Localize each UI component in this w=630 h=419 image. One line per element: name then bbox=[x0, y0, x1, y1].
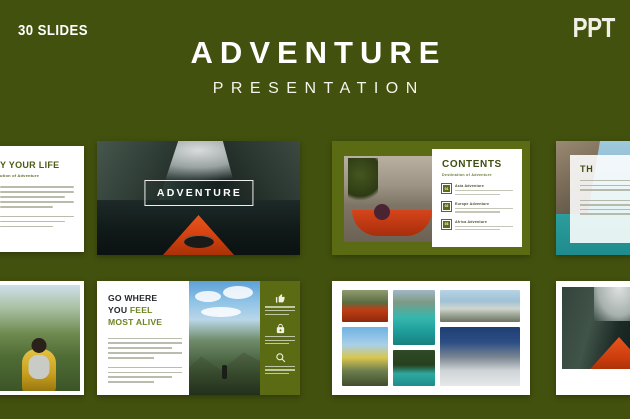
search-icon bbox=[265, 352, 295, 363]
text-line bbox=[108, 338, 182, 340]
item-number-badge: 03 bbox=[442, 220, 451, 229]
fjord-photo bbox=[562, 287, 630, 369]
text-line bbox=[108, 352, 182, 354]
slide-thumbnail-the-adventure[interactable]: TH bbox=[556, 141, 630, 255]
cloud bbox=[201, 307, 241, 317]
text-line bbox=[580, 180, 630, 181]
text-line bbox=[580, 209, 630, 210]
item-heading: Asia Adventure bbox=[455, 184, 513, 188]
slide-title-box: ADVENTURE bbox=[144, 180, 253, 206]
summit-photo bbox=[189, 281, 260, 395]
item-body: Asia Adventure bbox=[455, 184, 513, 195]
slide-heading: TH bbox=[580, 164, 630, 174]
slide-heading: GO WHERE YOU FEEL MOST ALIVE bbox=[108, 293, 182, 329]
slide-content: Y YOUR LIFE ution of Adventure bbox=[0, 146, 84, 227]
text-line bbox=[265, 340, 295, 341]
feature-item[interactable] bbox=[265, 352, 295, 374]
text-line bbox=[580, 200, 630, 201]
text-line bbox=[265, 369, 295, 370]
gallery-photo-yellow-jacket[interactable] bbox=[342, 327, 388, 386]
text-line bbox=[455, 229, 500, 230]
text-line bbox=[0, 226, 53, 228]
heading-line-3: MOST ALIVE bbox=[108, 317, 162, 327]
slide-thumbnail-go-where-you-feel-most-alive[interactable]: GO WHERE YOU FEEL MOST ALIVE bbox=[97, 281, 300, 395]
text-line bbox=[0, 201, 74, 203]
gallery-column bbox=[342, 290, 388, 386]
gallery-column bbox=[393, 290, 435, 386]
item-heading: Europe Adventure bbox=[455, 202, 513, 206]
slide-subheading: ution of Adventure bbox=[0, 173, 74, 178]
contents-item[interactable]: 02 Europe Adventure bbox=[442, 202, 513, 213]
text-line bbox=[108, 357, 154, 359]
gallery-photo-snowy-peaks[interactable] bbox=[440, 327, 520, 386]
gallery-photo-boat-lake[interactable] bbox=[393, 290, 435, 345]
lock-icon bbox=[265, 323, 295, 334]
body-paragraph bbox=[0, 186, 74, 208]
sky bbox=[594, 287, 630, 321]
slide-thumbnail-photo-gallery[interactable] bbox=[332, 281, 530, 395]
heading-line-2-plain: YOU bbox=[108, 305, 130, 315]
text-line bbox=[265, 373, 289, 374]
text-line bbox=[265, 336, 295, 337]
contents-item[interactable]: 03 Africa Adventure bbox=[442, 220, 513, 231]
text-line bbox=[265, 343, 289, 344]
slide-thumbnail-adventure-cover[interactable]: ADVENTURE bbox=[97, 141, 300, 255]
body-paragraph bbox=[108, 367, 182, 383]
contents-subtitle: Destination of Adventure bbox=[442, 173, 513, 177]
text-line bbox=[0, 216, 74, 218]
person bbox=[374, 204, 390, 220]
item-body: Europe Adventure bbox=[455, 202, 513, 213]
text-line bbox=[108, 367, 182, 369]
body-paragraph bbox=[580, 200, 630, 215]
slide-thumbnail-contents[interactable]: CONTENTS Destination of Adventure 01 Asi… bbox=[332, 141, 530, 255]
text-line bbox=[0, 191, 74, 193]
text-line bbox=[108, 347, 172, 349]
person-silhouette bbox=[222, 365, 227, 379]
item-heading: Africa Adventure bbox=[455, 220, 513, 224]
item-body: Africa Adventure bbox=[455, 220, 513, 231]
body-paragraph bbox=[580, 180, 630, 191]
thumbs-up-icon bbox=[265, 293, 295, 304]
text-line bbox=[580, 185, 630, 186]
slide-thumbnail-hiker[interactable] bbox=[0, 281, 84, 395]
feature-sidebar bbox=[260, 281, 300, 395]
gallery-photo-forest-lake[interactable] bbox=[393, 350, 435, 386]
hammock-photo bbox=[344, 156, 436, 242]
text-line bbox=[455, 208, 513, 209]
cloud bbox=[223, 286, 253, 299]
text-line bbox=[580, 204, 630, 205]
text-line bbox=[580, 213, 630, 214]
text-line bbox=[265, 306, 295, 307]
slide-thumbnail-kayak-card[interactable] bbox=[556, 281, 630, 395]
text-line bbox=[108, 381, 154, 383]
hiker-photo bbox=[0, 285, 80, 391]
contents-title: CONTENTS bbox=[442, 159, 513, 170]
kayak-boat bbox=[588, 337, 630, 369]
feature-item[interactable] bbox=[265, 293, 295, 315]
text-line bbox=[455, 226, 513, 227]
slide-thumbnail-enjoy-your-life[interactable]: Y YOUR LIFE ution of Adventure bbox=[0, 146, 84, 252]
body-paragraph bbox=[0, 216, 74, 228]
text-line bbox=[265, 314, 289, 315]
contents-item[interactable]: 01 Asia Adventure bbox=[442, 184, 513, 195]
heading-line-2-accent: FEEL bbox=[130, 305, 153, 315]
text-line bbox=[108, 376, 172, 378]
text-line bbox=[265, 310, 295, 311]
header: 30 SLIDES PPT ADVENTURE PRESENTATION bbox=[0, 0, 630, 130]
text-line bbox=[0, 186, 74, 188]
text-line bbox=[455, 194, 500, 195]
slide-heading: Y YOUR LIFE bbox=[0, 160, 74, 170]
body-paragraph bbox=[108, 338, 182, 359]
text-overlay: TH bbox=[570, 155, 630, 243]
item-number-badge: 01 bbox=[442, 184, 451, 193]
heading-line-1: GO WHERE bbox=[108, 293, 157, 303]
text-line bbox=[108, 372, 182, 374]
text-line bbox=[455, 211, 500, 212]
gallery-photo-hammock[interactable] bbox=[342, 290, 388, 322]
text-line bbox=[265, 366, 295, 367]
headline-block: GO WHERE YOU FEEL MOST ALIVE bbox=[108, 293, 182, 383]
text-line bbox=[0, 221, 65, 223]
photo-grid bbox=[342, 290, 520, 386]
hiker-with-backpack bbox=[22, 349, 56, 391]
feature-item[interactable] bbox=[265, 323, 295, 345]
text-line bbox=[0, 196, 65, 198]
page-subtitle: PRESENTATION bbox=[0, 80, 630, 98]
gallery-column bbox=[440, 290, 520, 386]
text-line bbox=[580, 189, 630, 190]
page-title: ADVENTURE bbox=[0, 37, 630, 70]
item-number-badge: 02 bbox=[442, 202, 451, 211]
contents-card: CONTENTS Destination of Adventure 01 Asi… bbox=[432, 149, 522, 247]
gallery-photo-mountain-sitter[interactable] bbox=[440, 290, 520, 322]
text-line bbox=[0, 206, 53, 208]
text-line bbox=[455, 190, 513, 191]
hammock bbox=[352, 210, 432, 236]
cloud bbox=[195, 291, 221, 302]
tree bbox=[348, 158, 378, 206]
text-line bbox=[108, 342, 182, 344]
